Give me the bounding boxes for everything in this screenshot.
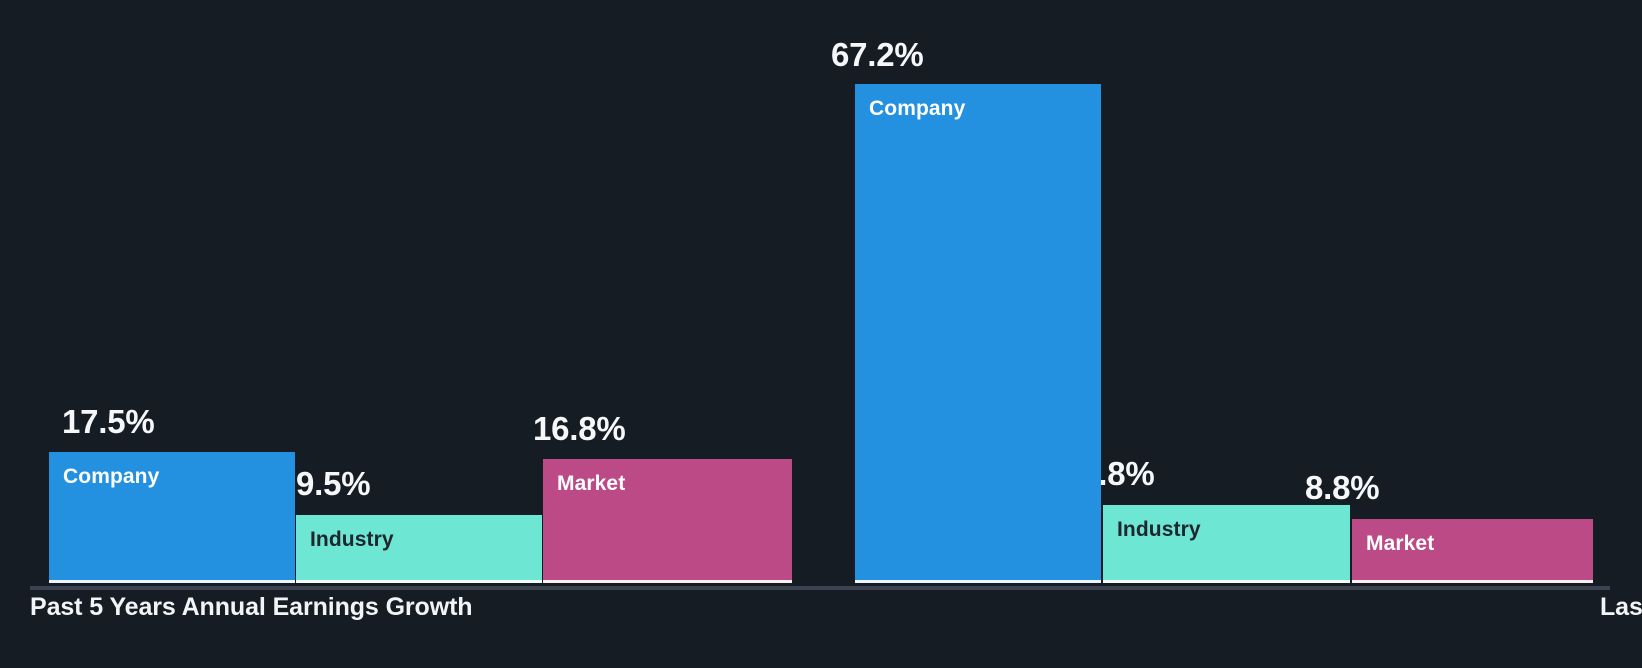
bar-company[interactable]: Company bbox=[855, 84, 1101, 583]
bar-market[interactable]: Market bbox=[543, 459, 792, 583]
bar-value-market: 8.8% bbox=[1305, 471, 1379, 504]
chart-caption-past-5-years: Past 5 Years Annual Earnings Growth bbox=[30, 593, 472, 622]
x-axis-line bbox=[800, 586, 1610, 590]
bar-market[interactable]: Market bbox=[1352, 519, 1593, 583]
earnings-growth-chart-container: 17.5% 9.5% 16.8% Company Industry Market… bbox=[0, 0, 1642, 668]
bar-label-market: Market bbox=[1366, 532, 1434, 556]
bar-label-company: Company bbox=[869, 97, 965, 121]
chart-panel-last-1-year: 67.2% 10.8% 8.8% Company Industry Market… bbox=[800, 0, 1642, 668]
bar-industry[interactable]: Industry bbox=[1103, 505, 1350, 583]
bar-value-industry: 9.5% bbox=[296, 467, 370, 500]
bar-value-company: 17.5% bbox=[62, 405, 155, 438]
bar-label-industry: Industry bbox=[310, 528, 394, 552]
chart-panel-past-5-years: 17.5% 9.5% 16.8% Company Industry Market… bbox=[0, 0, 806, 668]
plot-area-last-1-year: 67.2% 10.8% 8.8% Company Industry Market bbox=[800, 23, 1610, 583]
bar-label-industry: Industry bbox=[1117, 518, 1201, 542]
x-axis-line bbox=[30, 586, 806, 590]
bar-label-market: Market bbox=[557, 472, 625, 496]
bar-value-company: 67.2% bbox=[831, 38, 924, 71]
bar-value-market: 16.8% bbox=[533, 412, 626, 445]
bar-company[interactable]: Company bbox=[49, 452, 295, 583]
chart-caption-last-1-year: Last 1 Year Earnings Growth bbox=[1600, 593, 1642, 622]
plot-area-past-5-years: 17.5% 9.5% 16.8% Company Industry Market bbox=[30, 23, 806, 583]
bar-label-company: Company bbox=[63, 465, 159, 489]
bar-industry[interactable]: Industry bbox=[296, 515, 542, 583]
